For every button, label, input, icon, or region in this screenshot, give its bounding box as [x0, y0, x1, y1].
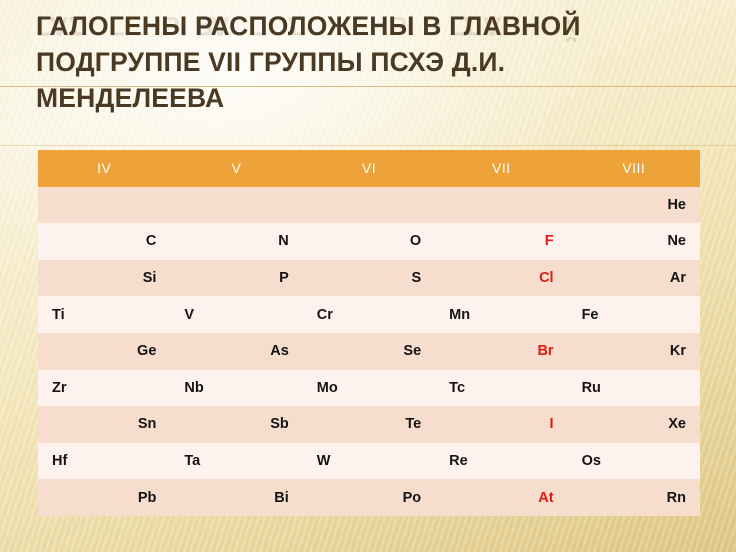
element-cell: Se	[303, 333, 435, 370]
element-cell: At	[435, 479, 567, 516]
element-cell: As	[170, 333, 302, 370]
table-row: CNOFNe	[38, 223, 700, 260]
table-header-row: IV V VI VII VIII	[38, 150, 700, 187]
table-row: HfTaWReOs	[38, 443, 700, 480]
element-cell: Mo	[303, 370, 435, 407]
element-cell: Zr	[38, 370, 170, 407]
element-cell: V	[170, 296, 302, 333]
element-cell: Br	[435, 333, 567, 370]
page-title: ГАЛОГЕНЫ РАСПОЛОЖЕНЫ В ГЛАВНОЙ ПОДГРУППЕ…	[36, 8, 716, 116]
element-cell: Tc	[435, 370, 567, 407]
element-cell: Os	[568, 443, 700, 480]
element-cell: W	[303, 443, 435, 480]
element-cell: Ru	[568, 370, 700, 407]
table-header: IV V VI VII VIII	[38, 150, 700, 187]
element-cell: He	[568, 187, 700, 224]
element-cell: I	[435, 406, 567, 443]
element-cell: Kr	[568, 333, 700, 370]
element-cell: Po	[303, 479, 435, 516]
element-cell: Xe	[568, 406, 700, 443]
element-cell: Cr	[303, 296, 435, 333]
table-row: He	[38, 187, 700, 224]
element-cell-empty	[303, 187, 435, 224]
element-cell: Cl	[435, 260, 567, 297]
table-row: PbBiPoAtRn	[38, 479, 700, 516]
element-cell: Ne	[568, 223, 700, 260]
table-row: ZrNbMoTcRu	[38, 370, 700, 407]
column-header-viii: VIII	[568, 150, 700, 187]
element-cell: Sb	[170, 406, 302, 443]
table-row: GeAsSeBrKr	[38, 333, 700, 370]
element-cell: Te	[303, 406, 435, 443]
element-cell: Ta	[170, 443, 302, 480]
periodic-table: IV V VI VII VIII HeCNOFNeSiPSClArTiVCrMn…	[38, 150, 700, 516]
element-cell: Hf	[38, 443, 170, 480]
element-cell: Bi	[170, 479, 302, 516]
element-cell: O	[303, 223, 435, 260]
element-cell-empty	[435, 187, 567, 224]
element-cell: S	[303, 260, 435, 297]
table-body: HeCNOFNeSiPSClArTiVCrMnFeGeAsSeBrKrZrNbM…	[38, 187, 700, 516]
slide-canvas: ГАЛОГЕНЫ РАСПОЛОЖЕНЫ В ГЛАВНОЙ ПОДГРУППЕ…	[0, 0, 736, 552]
element-cell-empty	[170, 187, 302, 224]
element-cell: Sn	[38, 406, 170, 443]
column-header-v: V	[170, 150, 302, 187]
title-divider-rule-lower	[0, 145, 736, 146]
element-cell: N	[170, 223, 302, 260]
element-cell: Re	[435, 443, 567, 480]
element-cell: Si	[38, 260, 170, 297]
element-cell: F	[435, 223, 567, 260]
table-row: SnSbTeIXe	[38, 406, 700, 443]
element-cell: Ar	[568, 260, 700, 297]
element-cell: Fe	[568, 296, 700, 333]
periodic-table-container: IV V VI VII VIII HeCNOFNeSiPSClArTiVCrMn…	[38, 150, 700, 516]
column-header-vii: VII	[435, 150, 567, 187]
element-cell: C	[38, 223, 170, 260]
element-cell: Nb	[170, 370, 302, 407]
element-cell: Pb	[38, 479, 170, 516]
element-cell: Ti	[38, 296, 170, 333]
element-cell: Mn	[435, 296, 567, 333]
slide-title-block: ГАЛОГЕНЫ РАСПОЛОЖЕНЫ В ГЛАВНОЙ ПОДГРУППЕ…	[36, 8, 716, 140]
element-cell: P	[170, 260, 302, 297]
element-cell: Ge	[38, 333, 170, 370]
element-cell: Rn	[568, 479, 700, 516]
column-header-vi: VI	[303, 150, 435, 187]
element-cell-empty	[38, 187, 170, 224]
table-row: SiPSClAr	[38, 260, 700, 297]
column-header-iv: IV	[38, 150, 170, 187]
table-row: TiVCrMnFe	[38, 296, 700, 333]
